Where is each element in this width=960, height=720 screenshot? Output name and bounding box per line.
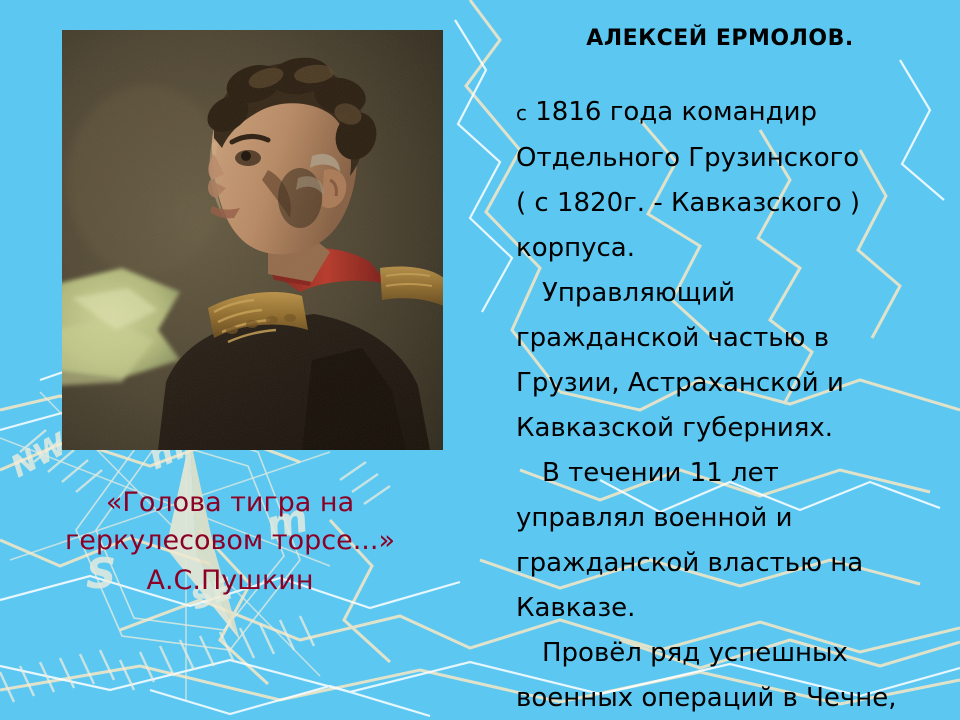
body-line: Управляющий — [516, 271, 946, 316]
body-line: гражданской частью в — [516, 316, 946, 361]
body-line: военных операций в Чечне, — [516, 676, 946, 720]
portrait-image — [62, 30, 443, 450]
body-line: Грузии, Астраханской и — [516, 361, 946, 406]
body-line: гражданской властью на — [516, 541, 946, 586]
body-line: Провёл ряд успешных — [516, 631, 946, 676]
slide-canvas: NW N S SE E m m — [0, 0, 960, 720]
body-line: В течении 11 лет — [516, 451, 946, 496]
page-title: АЛЕКСЕЙ ЕРМОЛОВ. — [500, 26, 940, 51]
body-line: корпуса. — [516, 226, 946, 271]
body-line: управлял военной и — [516, 496, 946, 541]
body-line: ( с 1820г. - Кавказского ) — [516, 181, 946, 226]
portrait-quote: «Голова тигра на геркулесовом торсе...» — [20, 484, 440, 560]
biography-body: с 1816 года командир Отдельного Грузинск… — [516, 90, 946, 720]
portrait-quote-attribution: А.С.Пушкин — [20, 562, 440, 600]
body-line: с 1816 года командир — [516, 90, 946, 136]
body-line: Отдельного Грузинского — [516, 136, 946, 181]
body-line: Кавказе. — [516, 586, 946, 631]
body-line: Кавказской губерниях. — [516, 406, 946, 451]
